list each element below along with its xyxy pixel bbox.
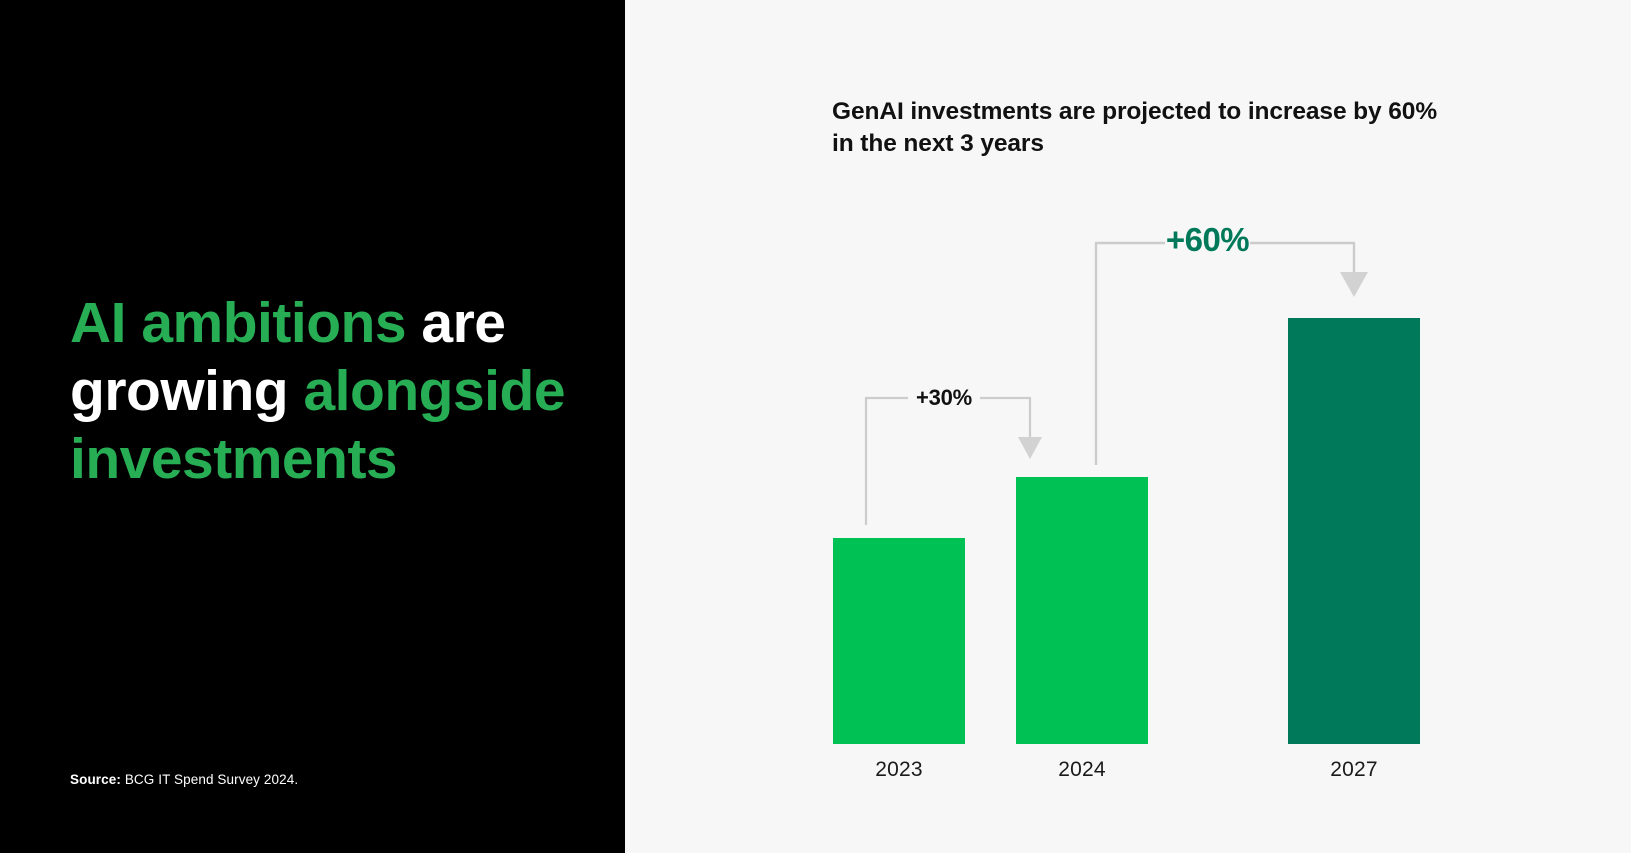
annotation-growth-30: +30%	[908, 385, 980, 411]
annotation-growth-60: +60%	[1165, 221, 1250, 259]
x-tick-label-2027: 2027	[1288, 758, 1420, 782]
source-label: Source:	[70, 772, 121, 787]
source-note: Source: BCG IT Spend Survey 2024.	[70, 772, 298, 787]
bar-2027	[1288, 318, 1420, 744]
page-title: AI ambitions are growing alongside inves…	[70, 290, 570, 493]
x-tick-label-2023: 2023	[833, 758, 965, 782]
bar-2024	[1016, 477, 1148, 744]
right-chart-panel: GenAI investments are projected to incre…	[625, 0, 1631, 853]
x-tick-label-2024: 2024	[1016, 758, 1148, 782]
headline-segment-green-1: AI ambitions	[70, 291, 406, 355]
left-title-panel: AI ambitions are growing alongside inves…	[0, 0, 625, 853]
slide: AI ambitions are growing alongside inves…	[0, 0, 1631, 853]
bar-2023	[833, 538, 965, 744]
source-text: BCG IT Spend Survey 2024.	[121, 772, 298, 787]
bar-chart: 2023 2024 2027 +30% +60%	[625, 0, 1631, 853]
